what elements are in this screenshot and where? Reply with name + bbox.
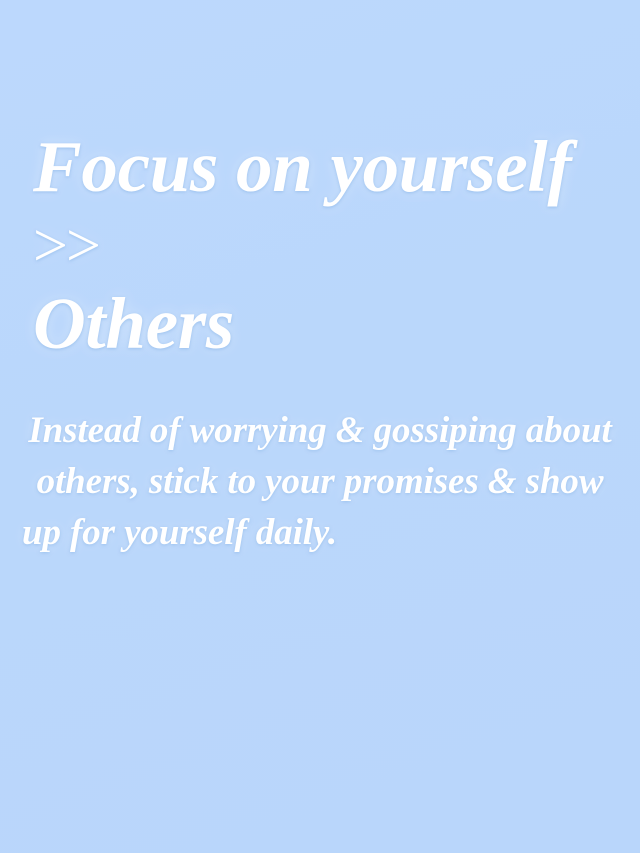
- body-line-2: others, stick to your promises & show: [14, 456, 626, 507]
- headline-line2-text: Others: [33, 283, 234, 364]
- headline: Focus on yourself >>Others: [33, 128, 607, 362]
- quote-card: Focus on yourself >>Others Instead of wo…: [0, 0, 640, 853]
- double-chevron-right-icon: >>: [33, 212, 99, 280]
- body-line-1: Instead of worrying & gossiping about: [14, 405, 626, 456]
- body-paragraph: Instead of worrying & gossiping about ot…: [14, 405, 626, 558]
- headline-line1-text: Focus on yourself: [33, 126, 589, 207]
- body-line-3: up for yourself daily.: [14, 507, 626, 558]
